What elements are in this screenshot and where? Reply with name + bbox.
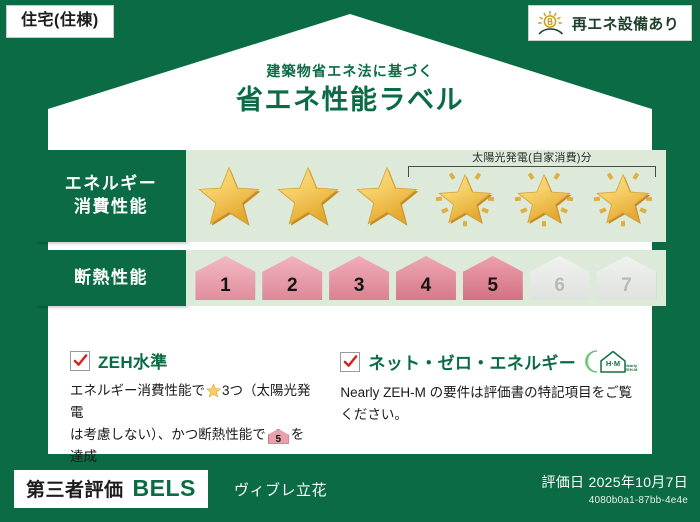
zeh-standard-checkbox	[70, 351, 90, 371]
energy-row-label-line1: エネルギー	[65, 173, 158, 196]
bels-badge: 第三者評価 BELS	[14, 470, 208, 508]
energy-performance-row: エネルギー 消費性能 太陽光発電(自家消費)分	[36, 150, 666, 242]
net-zero-title: ネット・ゼロ・エネルギー	[368, 349, 576, 374]
star-solar-icon	[511, 163, 577, 229]
zeh-standard-title: ZEH水準	[98, 348, 168, 373]
net-zero-checkbox	[340, 352, 360, 372]
bels-en-label: BELS	[133, 475, 196, 502]
star-item	[351, 160, 423, 232]
insulation-level-item: 4	[396, 256, 456, 300]
label-heading: 建築物省エネ法に基づく 省エネ性能ラベル	[48, 62, 652, 117]
insulation-performance-row: 断熱性能 1 2 3 4 5 6 7	[36, 250, 666, 306]
insulation-level-item: 3	[329, 256, 389, 300]
info-section: ZEH水準 エネルギー消費性能で3つ（太陽光発電は考慮しない）、かつ断熱性能で5…	[48, 348, 652, 467]
star-item-solar	[508, 160, 580, 232]
star-item-solar	[429, 160, 501, 232]
heading-title: 省エネ性能ラベル	[48, 84, 652, 116]
insulation-row-label: 断熱性能	[36, 250, 186, 306]
svg-text:ZEH-M: ZEH-M	[625, 367, 638, 372]
nearly-zeh-m-logo-icon: H·M Nearly ZEH-M	[584, 348, 638, 375]
building-type-tag: 住宅(住棟)	[6, 5, 114, 38]
check-icon	[343, 354, 358, 369]
insulation-level-item: 1	[195, 256, 255, 300]
zeh-standard-header: ZEH水準	[70, 348, 312, 373]
zeh-standard-description: エネルギー消費性能で3つ（太陽光発電は考慮しない）、かつ断熱性能で5を達成	[70, 380, 312, 467]
zeh-desc-part2: は考慮しない）、かつ断熱性能で	[70, 427, 266, 442]
star-icon	[275, 163, 341, 229]
building-name: ヴィブレ立花	[234, 479, 327, 500]
energy-row-body: 太陽光発電(自家消費)分	[186, 150, 666, 242]
star-rating	[190, 150, 662, 242]
inline-star-icon	[206, 383, 221, 398]
renewable-equipment-badge: 再エネ設備あり	[528, 5, 692, 41]
star-item-solar	[587, 160, 659, 232]
energy-row-label: エネルギー 消費性能	[36, 150, 186, 242]
insulation-level-item: 6	[530, 256, 590, 300]
energy-performance-label: 住宅(住棟) 再エネ設備あり 建築物省エネ法に基づく 省エネ性能ラベル	[0, 0, 700, 522]
star-solar-icon	[590, 163, 656, 229]
net-zero-header: ネット・ゼロ・エネルギー H·M Nearly ZEH-M	[340, 348, 638, 375]
performance-rows: エネルギー 消費性能 太陽光発電(自家消費)分	[36, 150, 666, 314]
label-footer: 第三者評価 BELS ヴィブレ立花 評価日 2025年10月7日 4080b0a…	[0, 460, 700, 522]
star-icon	[196, 163, 262, 229]
energy-row-label-line2: 消費性能	[74, 196, 148, 219]
insulation-row-body: 1 2 3 4 5 6 7	[186, 250, 666, 306]
renewable-badge-label: 再エネ設備あり	[572, 13, 679, 34]
star-item	[193, 160, 265, 232]
inline-house-badge: 5	[268, 429, 289, 444]
insulation-level-item: 7	[596, 256, 656, 300]
evaluation-id: 4080b0a1-87bb-4e4e	[541, 495, 688, 506]
heading-subtitle: 建築物省エネ法に基づく	[48, 62, 652, 80]
insulation-level-item: 2	[262, 256, 322, 300]
check-icon	[73, 353, 88, 368]
insulation-level-item: 5	[463, 256, 523, 300]
net-zero-description: Nearly ZEH-M の要件は評価書の特記項目をご覧ください。	[340, 382, 638, 426]
star-item	[272, 160, 344, 232]
evaluation-info: 評価日 2025年10月7日 4080b0a1-87bb-4e4e	[541, 472, 688, 506]
star-icon	[354, 163, 420, 229]
net-zero-energy-block: ネット・ゼロ・エネルギー H·M Nearly ZEH-M Nearly ZEH…	[322, 348, 652, 467]
zeh-standard-block: ZEH水準 エネルギー消費性能で3つ（太陽光発電は考慮しない）、かつ断熱性能で5…	[48, 348, 322, 467]
svg-text:H·M: H·M	[606, 359, 620, 368]
zeh-desc-part1: エネルギー消費性能で	[70, 383, 205, 398]
evaluation-date: 評価日 2025年10月7日	[541, 472, 688, 492]
insulation-level-scale: 1 2 3 4 5 6 7	[192, 250, 660, 306]
solar-sun-icon	[537, 10, 565, 36]
bels-jp-label: 第三者評価	[26, 475, 124, 502]
star-solar-icon	[432, 163, 498, 229]
